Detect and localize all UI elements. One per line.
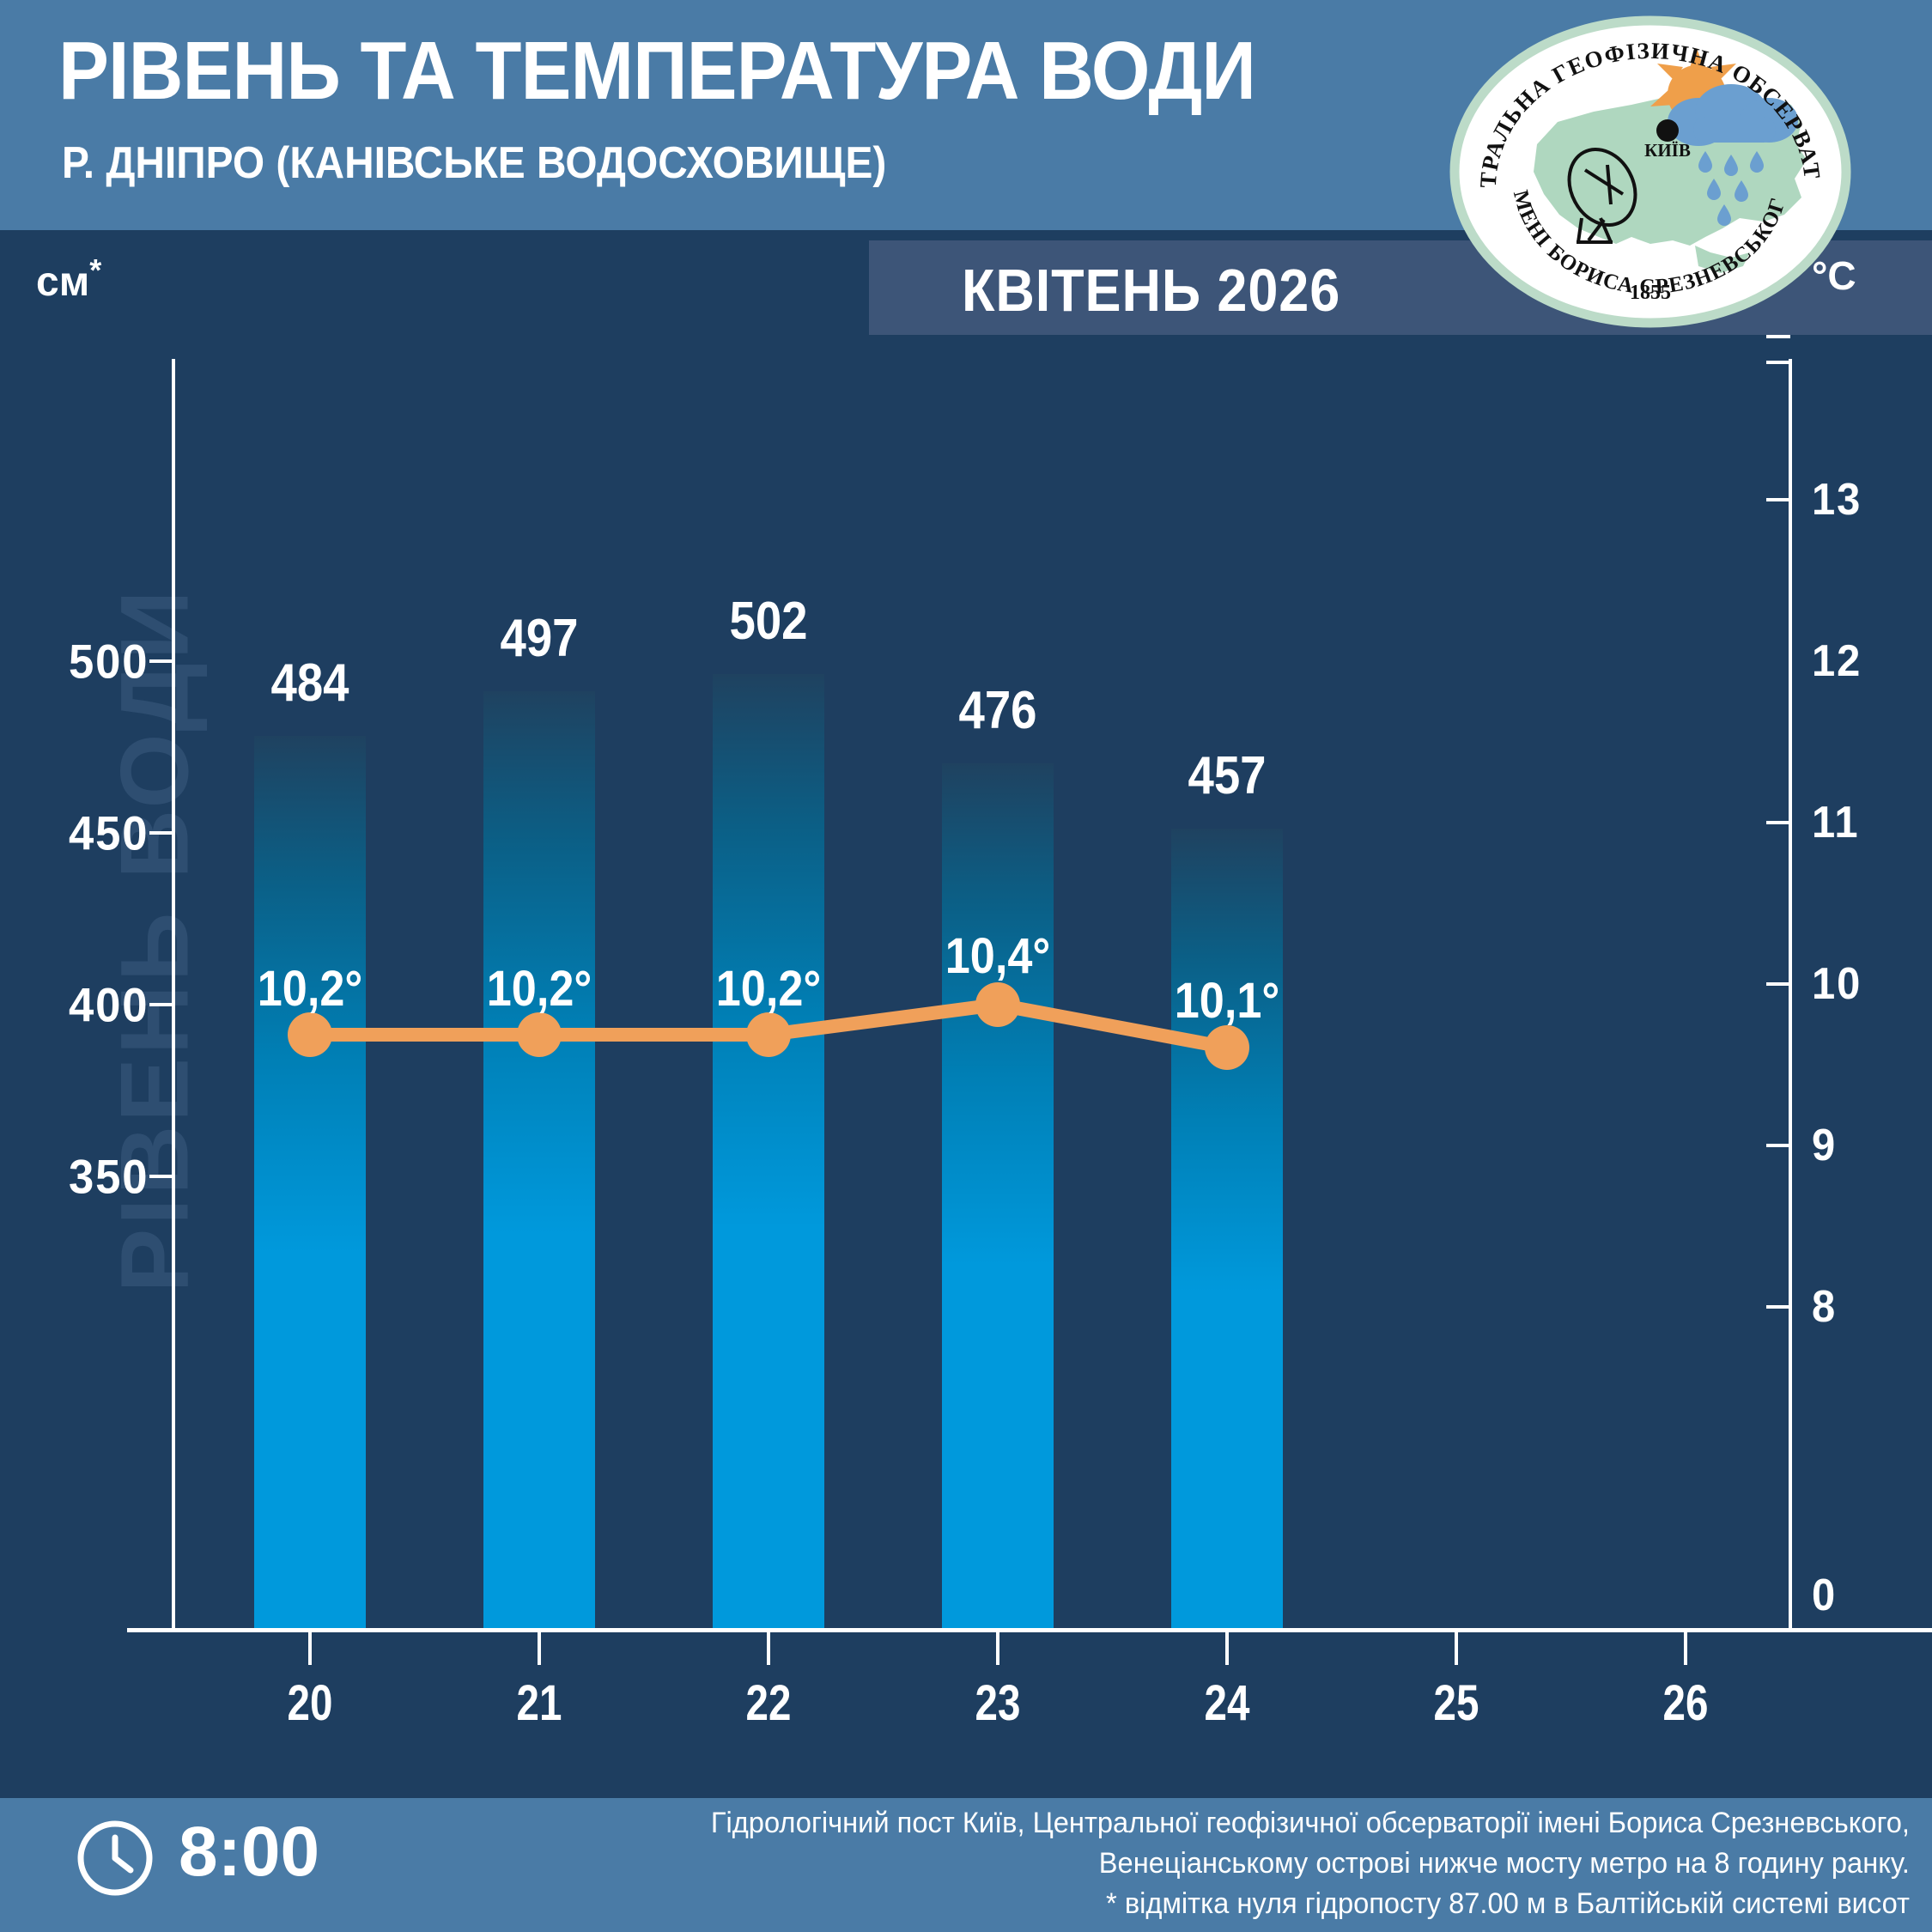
month-label: КВІТЕНЬ 2026	[962, 256, 1340, 325]
bar-value-day-21: 497	[460, 608, 619, 669]
observation-time: 8:00	[179, 1812, 319, 1893]
x-label-day-22: 22	[695, 1674, 842, 1732]
x-label-day-21: 21	[465, 1674, 613, 1732]
x-tick-day-22	[767, 1632, 770, 1665]
temp-label-day-20: 10,2°	[222, 960, 399, 1018]
x-label-day-20: 20	[236, 1674, 384, 1732]
bar-value-day-23: 476	[919, 680, 1078, 741]
y-tick-right-2	[1766, 821, 1790, 824]
y-tick-left-1	[149, 831, 173, 835]
x-tick-day-21	[538, 1632, 541, 1665]
y-label-left-1: 450	[69, 805, 149, 861]
y-label-right-0: 13	[1812, 474, 1862, 526]
y-label-left-0: 500	[69, 634, 149, 690]
x-label-day-25: 25	[1382, 1674, 1530, 1732]
bar-day-20[interactable]	[254, 736, 366, 1628]
temp-label-day-22: 10,2°	[680, 960, 858, 1018]
footer-line-2: Венеціанському острові нижче мосту метро…	[623, 1844, 1910, 1884]
y-tick-right-0	[1766, 498, 1790, 501]
x-label-day-26: 26	[1612, 1674, 1759, 1732]
y-label-left-2: 400	[69, 977, 149, 1033]
y-label-right-5: 8	[1812, 1281, 1837, 1333]
logo-year: 1855	[1630, 282, 1671, 304]
page-subtitle: Р. ДНІПРО (КАНІВСЬКЕ ВОДОСХОВИЩЕ)	[62, 137, 886, 189]
x-label-day-24: 24	[1153, 1674, 1301, 1732]
left-unit-asterisk: *	[89, 252, 101, 288]
y-label-right-1: 12	[1812, 635, 1862, 687]
x-axis-line	[127, 1628, 1932, 1632]
x-tick-day-25	[1455, 1632, 1458, 1665]
footer-line-3: * відмітка нуля гідропосту 87.00 м в Бал…	[623, 1884, 1910, 1924]
y-label-right-4: 9	[1812, 1120, 1837, 1171]
temp-label-day-21: 10,2°	[451, 960, 629, 1018]
bar-day-22[interactable]	[713, 674, 824, 1628]
footer-line-1: Гідрологічний пост Київ, Центральної гео…	[623, 1803, 1910, 1844]
y-tick-left-3	[149, 1175, 173, 1178]
right-axis-unit: °C	[1812, 252, 1856, 299]
bar-value-day-24: 457	[1148, 745, 1307, 806]
left-unit-text: см	[36, 259, 89, 305]
temp-label-day-24: 10,1°	[1139, 972, 1316, 1030]
y-label-right-2: 11	[1812, 797, 1859, 848]
temp-label-day-23: 10,4°	[909, 927, 1087, 985]
left-axis-watermark: РІВЕНЬ ВОДИ	[100, 382, 210, 1498]
y-label-right-3: 10	[1812, 958, 1862, 1010]
left-axis-unit: см*	[36, 252, 101, 306]
kyiv-dot	[1656, 119, 1679, 142]
x-tick-day-20	[308, 1632, 312, 1665]
observatory-logo: КИЇВ ЦЕНТРАЛЬНА ГЕОФІЗИЧНА ОБСЕРВАТОРІЯ …	[1448, 15, 1853, 328]
y-tick-left-0	[149, 659, 173, 663]
y-tick-right-top	[1766, 361, 1790, 364]
clock-icon	[76, 1819, 155, 1898]
x-label-day-23: 23	[924, 1674, 1072, 1732]
bar-day-24[interactable]	[1171, 829, 1283, 1628]
y-tick-right-3	[1766, 982, 1790, 986]
x-tick-day-24	[1225, 1632, 1229, 1665]
bar-day-23[interactable]	[942, 763, 1054, 1628]
y-label-left-3: 350	[69, 1149, 149, 1205]
chart-plot-area: РІВЕНЬ ВОДИ ТЕМПЕРАТУРА ВОДИ см* °C 500 …	[0, 335, 1932, 1674]
bar-day-21[interactable]	[483, 691, 595, 1628]
y-label-right-6: 0	[1812, 1570, 1837, 1621]
y-axis-right-line	[1789, 359, 1792, 1630]
x-tick-day-23	[996, 1632, 999, 1665]
page-title: РІВЕНЬ ТА ТЕМПЕРАТУРА ВОДИ	[58, 24, 1255, 118]
y-tick-left-2	[149, 1003, 173, 1006]
x-tick-day-26	[1684, 1632, 1687, 1665]
y-tick-right-5	[1766, 1305, 1790, 1309]
y-axis-left-line	[172, 359, 175, 1630]
y-tick-right-1	[1766, 335, 1790, 338]
footer-note: Гідрологічний пост Київ, Центральної гео…	[570, 1803, 1910, 1924]
y-tick-right-4	[1766, 1144, 1790, 1147]
kyiv-label: КИЇВ	[1644, 140, 1691, 161]
bar-value-day-20: 484	[231, 653, 390, 714]
bar-value-day-22: 502	[690, 591, 848, 652]
